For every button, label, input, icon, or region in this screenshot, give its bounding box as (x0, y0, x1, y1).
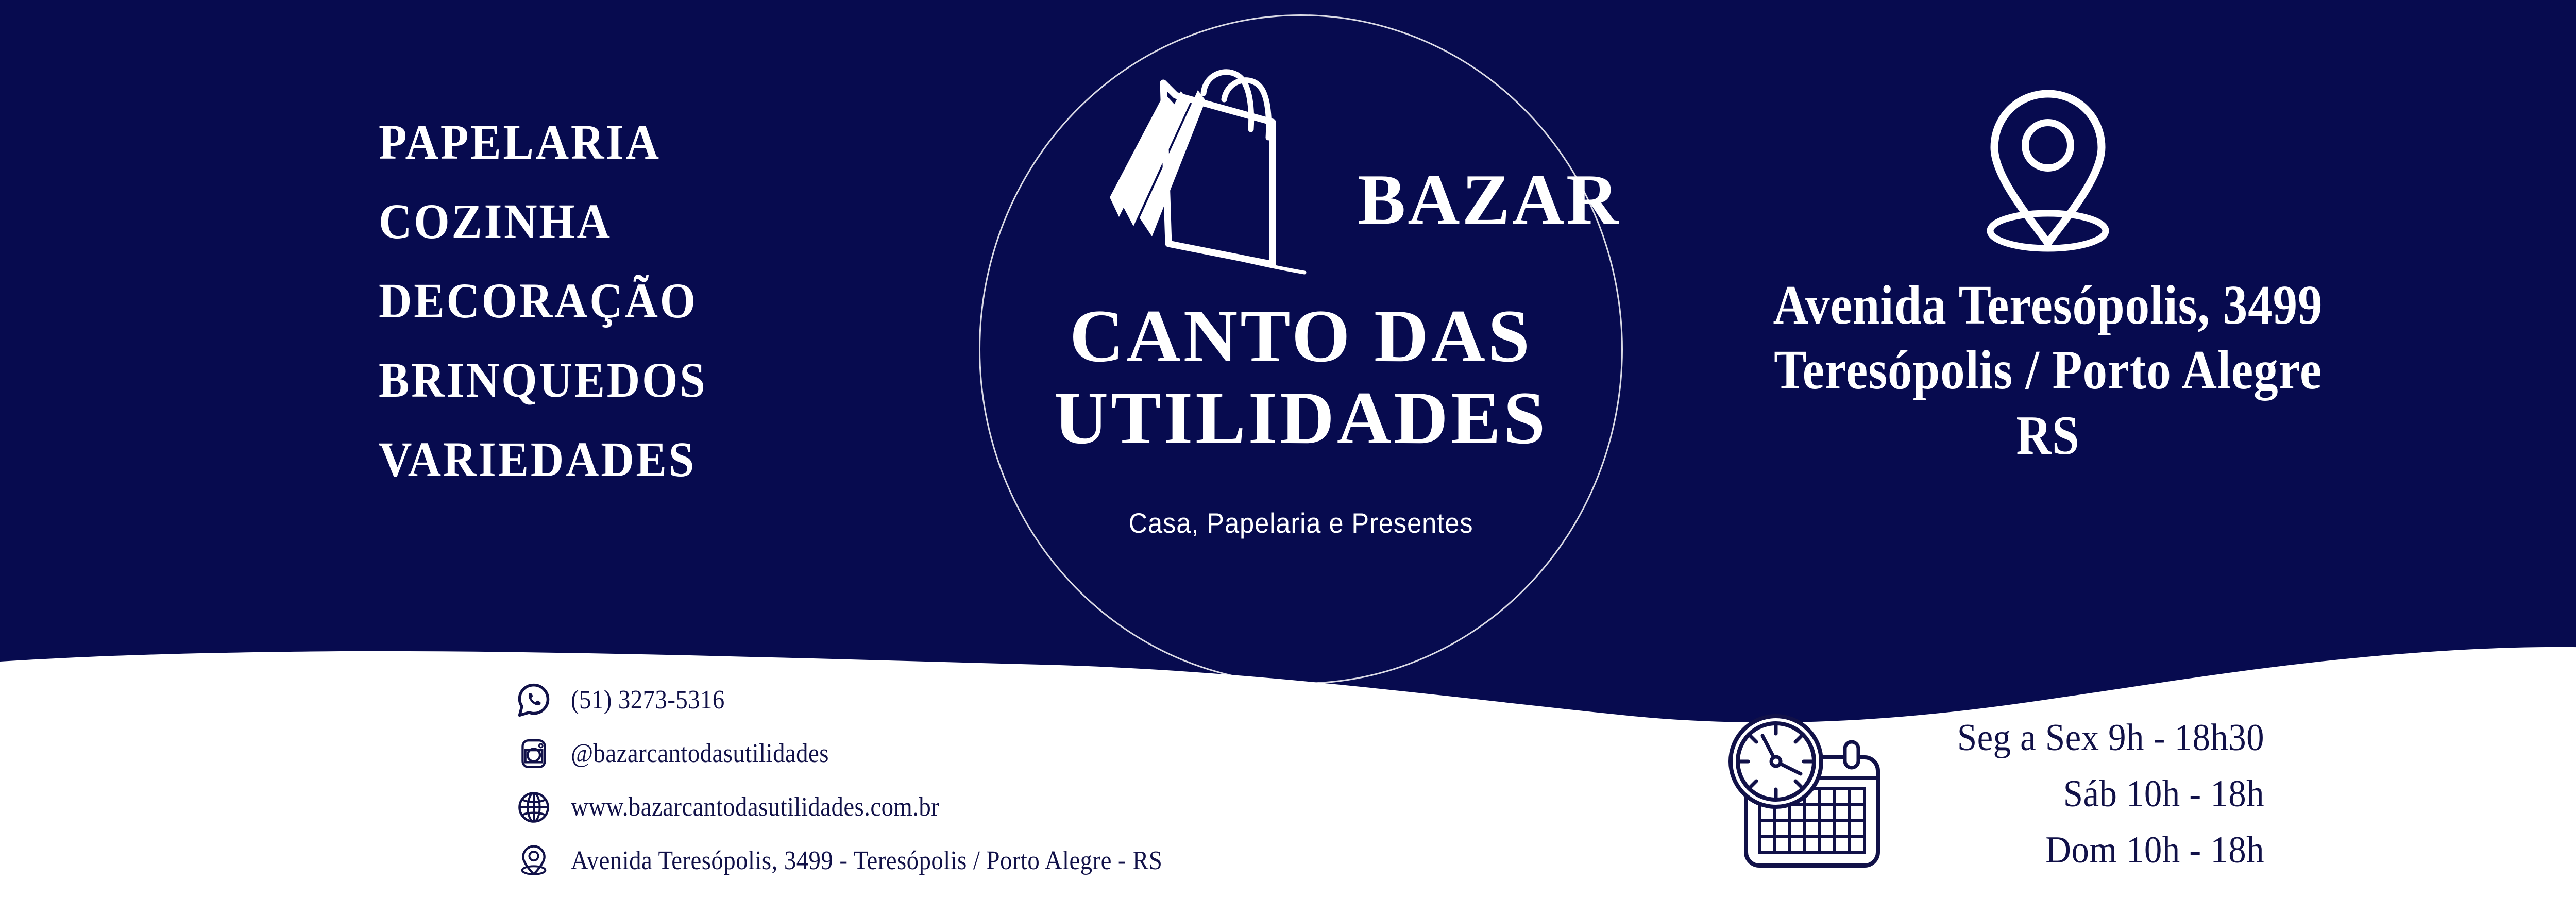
contact-row-address[interactable]: Avenida Teresópolis, 3499 - Teresópolis … (515, 837, 1228, 885)
opening-hours: Seg a Sex 9h - 18h30 Sáb 10h - 18h Dom 1… (1728, 710, 2264, 880)
map-pin-icon (1976, 82, 2120, 252)
logo-bazar-word: BAZAR (1358, 164, 1620, 236)
clock-calendar-icon (1728, 710, 1883, 880)
address-block: Avenida Teresópolis, 3499 Teresópolis / … (1674, 82, 2421, 468)
contact-row-whatsapp[interactable]: (51) 3273-5316 (515, 676, 1228, 724)
contact-row-website[interactable]: www.bazarcantodasutilidades.com.br (515, 783, 1228, 832)
hours-line-sunday: Dom 10h - 18h (1929, 822, 2264, 878)
instagram-icon (515, 734, 552, 773)
opening-hours-lines: Seg a Sex 9h - 18h30 Sáb 10h - 18h Dom 1… (1929, 710, 2264, 878)
category-item-decoracao: DECORAÇÃO (379, 276, 858, 326)
address-line-2: Teresópolis / Porto Alegre (1719, 338, 2377, 403)
banner-root: PAPELARIA COZINHA DECORAÇÃO BRINQUEDOS V… (0, 0, 2576, 898)
contact-row-instagram[interactable]: @bazarcantodasutilidades (515, 730, 1228, 778)
contact-text-address: Avenida Teresópolis, 3499 - Teresópolis … (571, 848, 1162, 874)
globe-icon (515, 788, 552, 827)
logo-tagline: Casa, Papelaria e Presentes (1005, 506, 1597, 539)
logo-name-line-1: CANTO DAS (979, 295, 1623, 377)
whatsapp-icon (515, 681, 552, 720)
category-list: PAPELARIA COZINHA DECORAÇÃO BRINQUEDOS V… (379, 117, 894, 484)
logo-brand-name: CANTO DAS UTILIDADES (979, 295, 1623, 459)
contact-list: (51) 3273-5316 @bazarcantodasutilidades (515, 676, 1228, 890)
contact-text-instagram: @bazarcantodasutilidades (571, 740, 829, 767)
hours-line-weekdays: Seg a Sex 9h - 18h30 (1929, 710, 2264, 766)
category-item-variedades: VARIEDADES (379, 435, 858, 484)
address-line-3: RS (1719, 403, 2377, 468)
address-lines: Avenida Teresópolis, 3499 Teresópolis / … (1719, 273, 2377, 468)
category-item-papelaria: PAPELARIA (379, 117, 858, 167)
address-line-1: Avenida Teresópolis, 3499 (1719, 273, 2377, 338)
map-pin-icon (515, 841, 552, 880)
contact-text-website: www.bazarcantodasutilidades.com.br (571, 794, 939, 821)
hours-line-saturday: Sáb 10h - 18h (1929, 766, 2264, 822)
brand-logo: BAZAR CANTO DAS UTILIDADES Casa, Papelar… (979, 14, 1623, 684)
category-item-cozinha: COZINHA (379, 197, 858, 246)
contact-text-whatsapp: (51) 3273-5316 (571, 687, 725, 714)
logo-name-line-2: UTILIDADES (979, 377, 1623, 459)
shopping-bag-icon (1103, 69, 1350, 275)
category-item-brinquedos: BRINQUEDOS (379, 355, 858, 405)
